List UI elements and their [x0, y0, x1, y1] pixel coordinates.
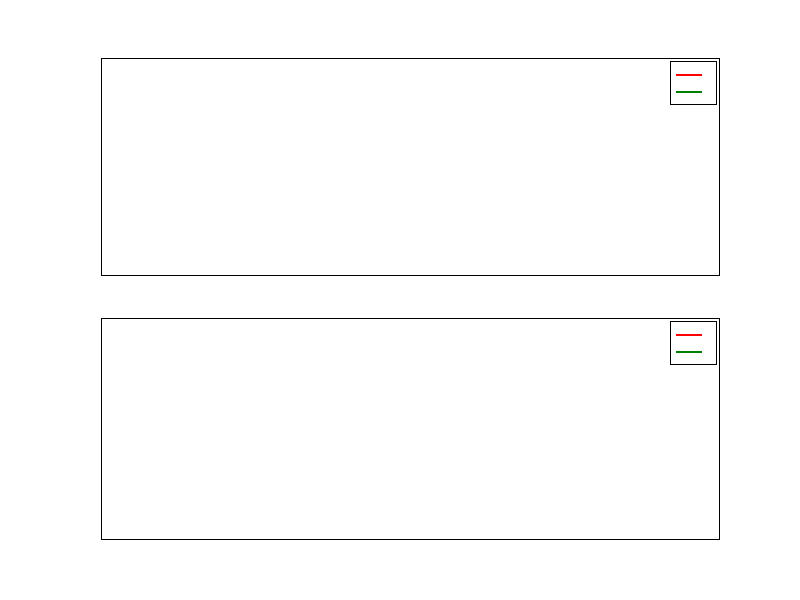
top-spectrum-axes	[101, 58, 720, 276]
legend-swatch-yy2	[676, 351, 702, 353]
bottom-legend	[670, 321, 717, 365]
legend-item	[676, 66, 710, 83]
bottom-spectrum-plot-area	[102, 319, 719, 539]
legend-swatch-yy1	[676, 91, 702, 93]
legend-item	[676, 326, 710, 343]
legend-swatch-xx1	[676, 74, 702, 76]
top-legend	[670, 61, 717, 105]
legend-item	[676, 83, 710, 100]
matplotlib-figure	[0, 0, 800, 600]
legend-item	[676, 343, 710, 360]
bottom-spectrum-axes	[101, 318, 720, 540]
legend-swatch-xx2	[676, 334, 702, 336]
top-spectrum-plot-area	[102, 59, 719, 275]
